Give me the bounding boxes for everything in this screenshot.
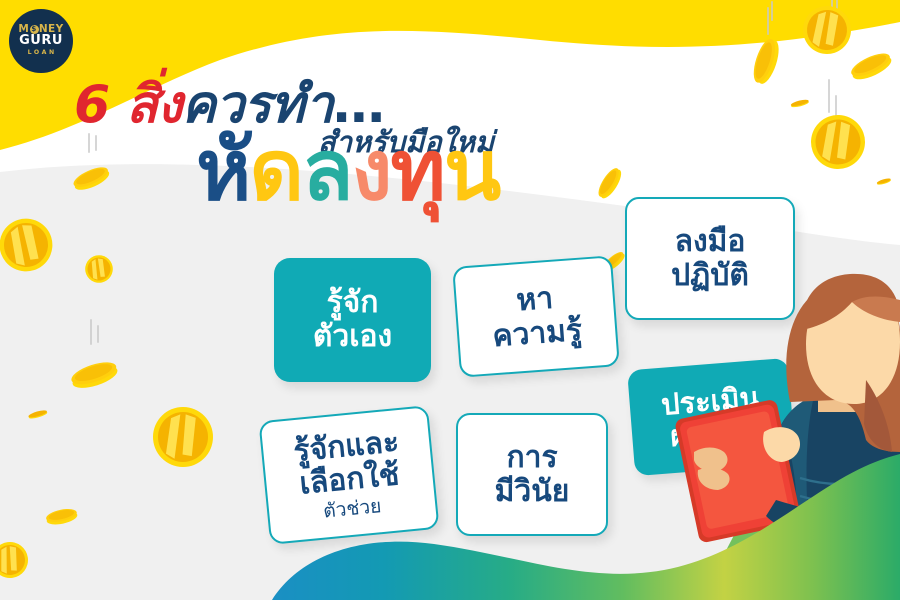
brand-logo[interactable]: M$NEY GURU LOAN (9, 9, 73, 73)
hero-letter-5: ท (390, 128, 443, 212)
hero-word: หัดลงทุน (196, 128, 499, 212)
hero-letter-1: หั (196, 128, 249, 212)
hero-letter-3: ล (302, 128, 351, 212)
logo-loan-text: LOAN (25, 49, 57, 58)
hero-letter-4: ง (351, 128, 390, 212)
hero-letter-7: น (444, 128, 499, 212)
hero-letter-2: ด (249, 128, 302, 212)
title-red-part: 6 สิ่ง (74, 75, 181, 135)
coin-icon: $ (30, 25, 39, 34)
logo-guru-text: GURU (19, 34, 63, 49)
poster-canvas: M$NEY GURU LOAN 6 สิ่งควรทำ… สำหรับมือให… (0, 0, 900, 600)
